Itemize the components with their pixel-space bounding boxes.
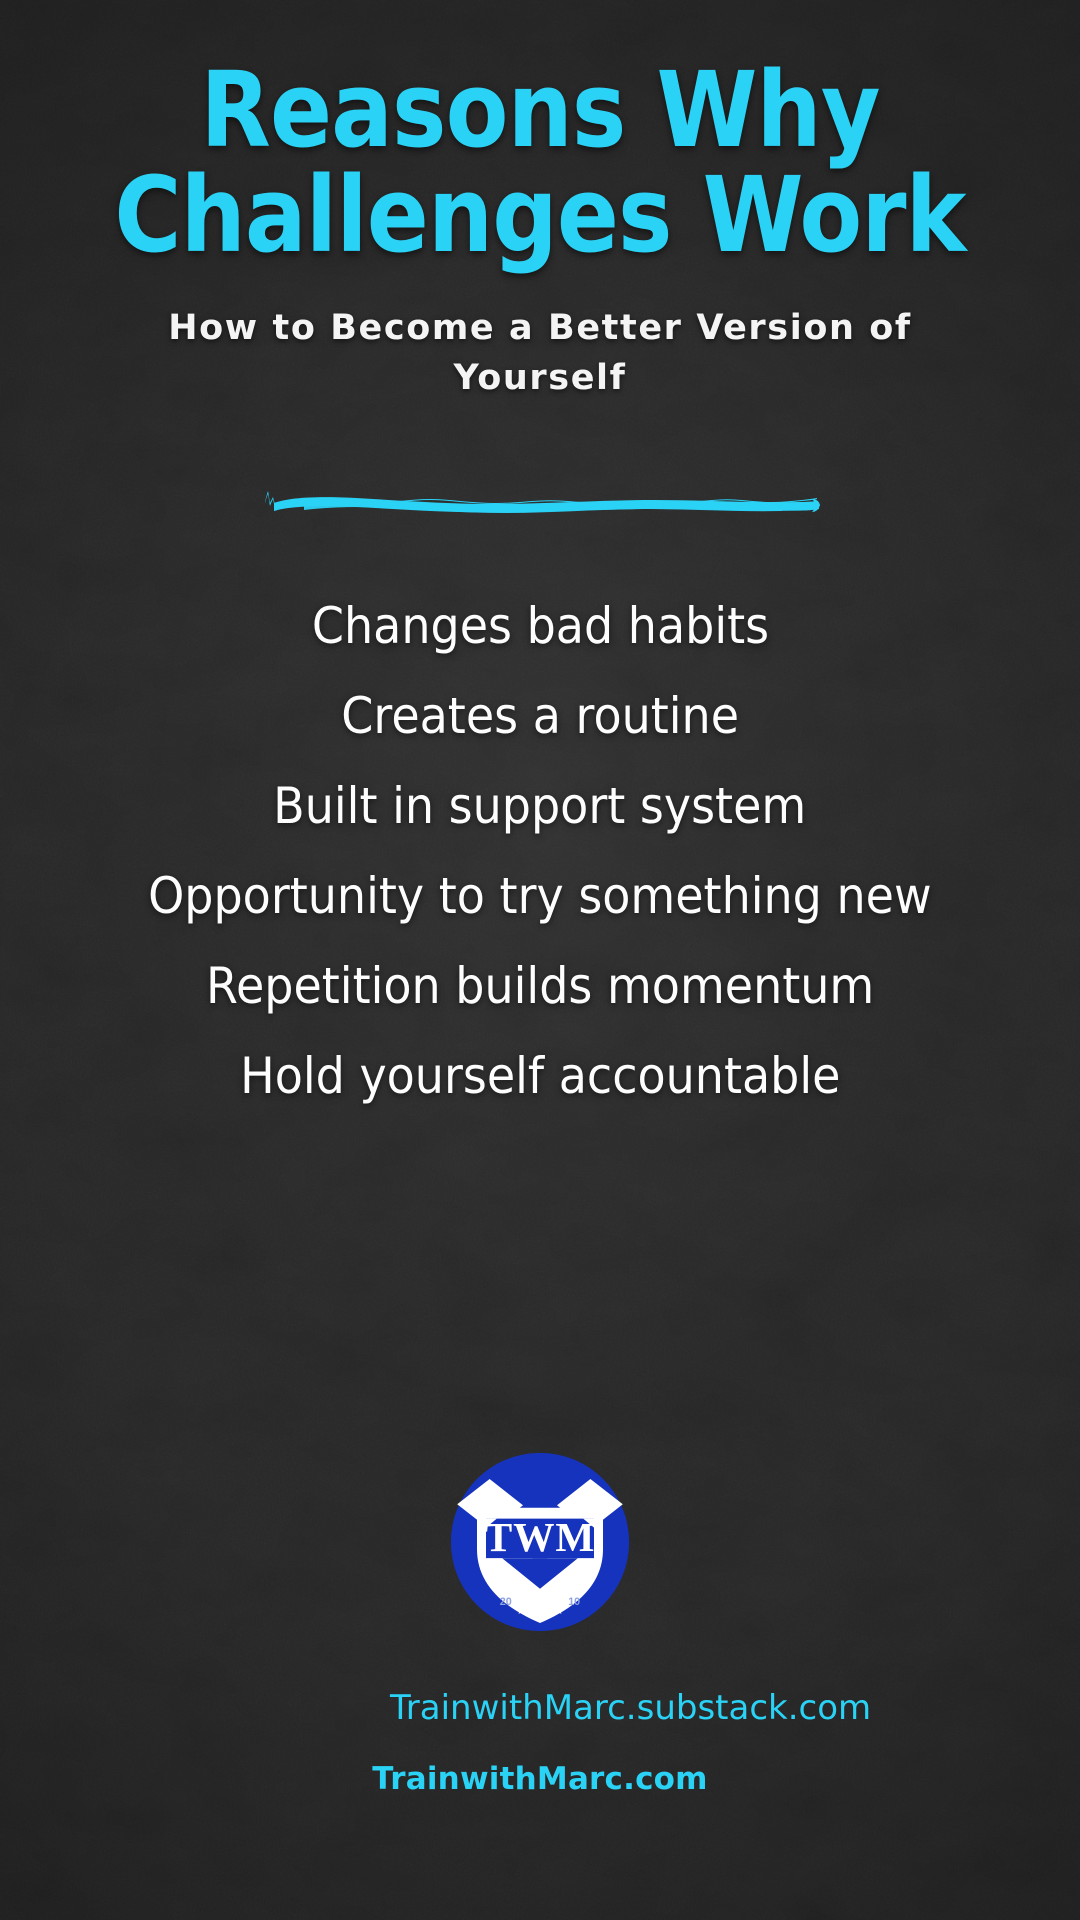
title-line-1: Reasons Why	[100, 58, 980, 163]
list-item: Repetition builds momentum	[206, 961, 874, 1011]
list-item: Hold yourself accountable	[240, 1051, 840, 1101]
poster-canvas: Reasons Why Challenges Work How to Becom…	[0, 0, 1080, 1920]
title-line-2: Challenges Work	[100, 163, 980, 268]
page-title: Reasons Why Challenges Work	[40, 58, 1040, 268]
list-item: Changes bad habits	[311, 601, 768, 651]
list-item: Built in support system	[273, 781, 806, 831]
reasons-list: Changes bad habits Creates a routine Bui…	[40, 601, 1040, 1101]
brush-stroke-icon	[260, 481, 820, 531]
list-item: Opportunity to try something new	[148, 871, 932, 921]
brush-stroke-divider	[260, 481, 820, 531]
list-item: Creates a routine	[341, 691, 739, 741]
page-subtitle: How to Become a Better Version of Yourse…	[145, 304, 935, 403]
